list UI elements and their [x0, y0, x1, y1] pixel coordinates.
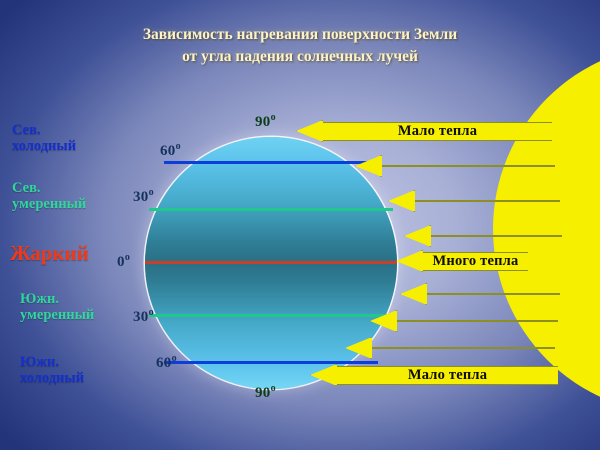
diagram-canvas: Зависимость нагревания поверхности Земли…	[0, 0, 600, 450]
ray-equator-label: Много тепла	[433, 253, 519, 270]
lat-0-label: 0o	[117, 252, 130, 271]
ray-north-subpolar-shaft	[382, 165, 555, 167]
ray-north-polar-shaft: Мало тепла	[323, 122, 552, 141]
lat-60-north-value: 60	[160, 143, 176, 159]
arrow-left-icon	[370, 310, 397, 332]
lat-90-south-label: 90o	[255, 383, 276, 402]
ray-north-polar: Мало тепла	[296, 120, 552, 142]
title-line-2: от угла падения солнечных лучей	[0, 46, 600, 68]
ray-north-temperate-shaft	[415, 200, 560, 202]
arrow-left-icon	[345, 337, 372, 359]
page-title: Зависимость нагревания поверхности Земли…	[0, 24, 600, 69]
zone-label-hot: Жаркий	[10, 242, 89, 266]
lat-90-north-value: 90	[255, 114, 271, 130]
arrow-left-icon	[400, 283, 427, 305]
degree-symbol-icon: o	[176, 141, 181, 152]
degree-symbol-icon: o	[271, 112, 276, 123]
lat-30-south-value: 30	[133, 309, 149, 325]
ray-south-polar: Мало тепла	[310, 364, 558, 386]
arrow-left-icon	[388, 190, 415, 212]
ray-south-temperate-shaft	[397, 320, 558, 322]
arrow-left-icon	[355, 155, 382, 177]
lat-60-south-value: 60	[156, 355, 172, 371]
latitude-line-equator	[145, 261, 397, 264]
degree-symbol-icon: o	[172, 353, 177, 364]
lat-0-value: 0	[117, 254, 125, 270]
ray-north-temperate	[388, 190, 560, 212]
lat-60-south-label: 60o	[156, 353, 177, 372]
ray-north-tropic	[404, 225, 562, 247]
ray-equator-shaft: Много тепла	[423, 252, 528, 271]
lat-60-north-label: 60o	[160, 141, 181, 160]
zone-label-south-temperate: Южн. умеренный	[20, 291, 94, 323]
ray-south-subpolar-shaft	[372, 347, 555, 349]
degree-symbol-icon: o	[149, 187, 154, 198]
ray-south-subpolar	[345, 337, 555, 359]
degree-symbol-icon: o	[271, 383, 276, 394]
lat-30-south-label: 30o	[133, 307, 154, 326]
arrow-left-icon	[396, 250, 423, 272]
ray-south-tropic-shaft	[427, 293, 560, 295]
ray-south-polar-shaft: Мало тепла	[337, 366, 558, 385]
latitude-line-30-north	[149, 208, 393, 211]
latitude-line-60-north	[164, 161, 378, 164]
ray-south-temperate	[370, 310, 558, 332]
degree-symbol-icon: o	[149, 307, 154, 318]
ray-north-tropic-shaft	[431, 235, 562, 237]
arrow-left-icon	[310, 364, 337, 386]
ray-south-tropic	[400, 283, 560, 305]
zone-label-north-cold: Сев. холодный	[12, 122, 76, 154]
ray-north-polar-label: Мало тепла	[398, 123, 477, 140]
arrow-left-icon	[404, 225, 431, 247]
arrow-left-icon	[296, 120, 323, 142]
degree-symbol-icon: o	[125, 252, 130, 263]
zone-label-south-cold: Южн. холодный	[20, 354, 84, 386]
lat-90-north-label: 90o	[255, 112, 276, 131]
lat-90-south-value: 90	[255, 385, 271, 401]
zone-label-north-temperate: Сев. умеренный	[12, 180, 86, 212]
lat-30-north-label: 30o	[133, 187, 154, 206]
ray-north-subpolar	[355, 155, 555, 177]
lat-30-north-value: 30	[133, 189, 149, 205]
title-line-1: Зависимость нагревания поверхности Земли	[0, 24, 600, 46]
latitude-line-30-south	[149, 314, 393, 317]
ray-equator: Много тепла	[396, 250, 528, 272]
ray-south-polar-label: Мало тепла	[408, 367, 487, 384]
